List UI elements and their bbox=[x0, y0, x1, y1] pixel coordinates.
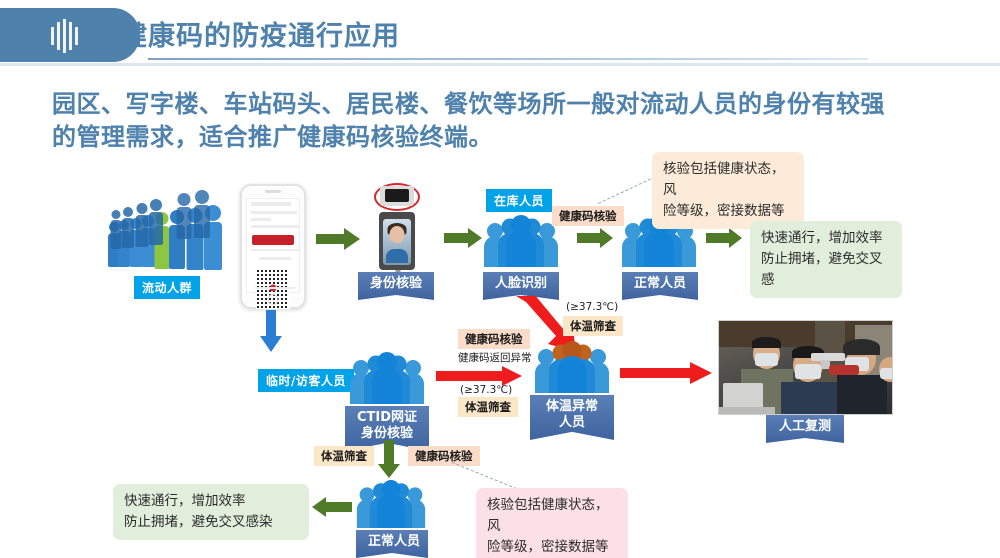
tag-temp-screen-mid: 体温筛查 bbox=[458, 397, 518, 417]
tag-health-code-check-bottom: 健康码核验 bbox=[408, 446, 480, 466]
people-group-icon-face-recognition bbox=[482, 215, 560, 271]
arrow-left-bottom bbox=[312, 497, 352, 521]
ribbon-abnormal-line2: 人员 bbox=[559, 415, 585, 430]
arrow-down-to-normal-bottom bbox=[378, 440, 400, 482]
arrow-right-red-ctid bbox=[436, 366, 522, 390]
callout-bottom-left: 快速通行，增加效率 防止拥堵，避免交叉感染 bbox=[113, 484, 309, 540]
ribbon-abnormal-line1: 体温异常 bbox=[546, 399, 598, 414]
callout-bottom-pink: 核验包括健康状态，风 险等级，密接数据等 bbox=[476, 488, 628, 558]
camera-module bbox=[380, 186, 414, 206]
phone-home-button bbox=[268, 294, 279, 305]
arrow-down-to-ctid bbox=[260, 310, 282, 356]
subtitle-line-2: 的管理需求，适合推广健康码核验终端。 bbox=[52, 121, 962, 154]
people-group-icon-ctid bbox=[348, 352, 426, 408]
ribbon-normal-people-bottom: 正常人员 bbox=[356, 530, 428, 558]
face-preview bbox=[383, 219, 411, 265]
barcode-wave-icon bbox=[44, 16, 84, 56]
ribbon-identity-verify: 身份核验 bbox=[358, 272, 434, 300]
phone-health-code-app bbox=[240, 184, 306, 309]
subtitle-line-1: 园区、写字楼、车站码头、居民楼、餐饮等场所一般对流动人员的身份有较强 bbox=[52, 88, 962, 121]
ribbon-ctid-line1: CTID网证 bbox=[357, 410, 417, 425]
terminal-screen bbox=[379, 212, 415, 270]
phone-speaker bbox=[265, 190, 281, 193]
people-group-icon-abnormal bbox=[533, 341, 611, 397]
slide-root: 健康码的防疫通行应用 园区、写字楼、车站码头、居民楼、餐饮等场所一般对流动人员的… bbox=[0, 0, 1000, 558]
tag-health-code-check-top: 健康码核验 bbox=[552, 206, 624, 226]
tag-temp-screen-bottom: 体温筛查 bbox=[314, 446, 374, 466]
crowd-illustration bbox=[108, 188, 236, 280]
callout-top-right: 核验包括健康状态，风 险等级，密接数据等 bbox=[652, 152, 804, 229]
phone-primary-action bbox=[252, 235, 294, 245]
text-temp-threshold-upper: (≥37.3℃) bbox=[566, 301, 618, 313]
label-temp-visitor: 临时/访客人员 bbox=[258, 369, 354, 392]
phone-screen bbox=[246, 198, 300, 293]
label-in-stock-people: 在库人员 bbox=[486, 189, 552, 212]
header-rule-secondary bbox=[0, 63, 1000, 66]
subtitle-block: 园区、写字楼、车站码头、居民楼、餐饮等场所一般对流动人员的身份有较强 的管理需求… bbox=[52, 88, 962, 154]
arrow-right-4 bbox=[706, 228, 742, 252]
arrow-right-1 bbox=[316, 228, 360, 254]
page-title: 健康码的防疫通行应用 bbox=[120, 14, 400, 53]
tag-temp-screen-upper: 体温筛查 bbox=[563, 316, 623, 336]
leader-line-bottom bbox=[452, 462, 517, 489]
ribbon-ctid-line2: 身份核验 bbox=[361, 426, 413, 441]
arrow-right-red-to-photo bbox=[620, 362, 712, 388]
arrow-right-3 bbox=[577, 228, 613, 252]
ribbon-normal-people-top: 正常人员 bbox=[622, 272, 698, 300]
callout-right-fast-pass: 快速通行，增加效率 防止拥堵，避免交叉感 bbox=[750, 221, 902, 298]
people-group-icon-normal-bottom bbox=[355, 480, 427, 532]
ribbon-manual-recheck: 人工复测 bbox=[766, 415, 844, 443]
ribbon-abnormal-temp: 体温异常 人员 bbox=[530, 395, 614, 440]
manual-recheck-photo bbox=[718, 320, 893, 415]
label-crowd: 流动人群 bbox=[134, 276, 200, 299]
header-rule bbox=[148, 58, 868, 60]
arrow-right-2 bbox=[444, 228, 482, 252]
